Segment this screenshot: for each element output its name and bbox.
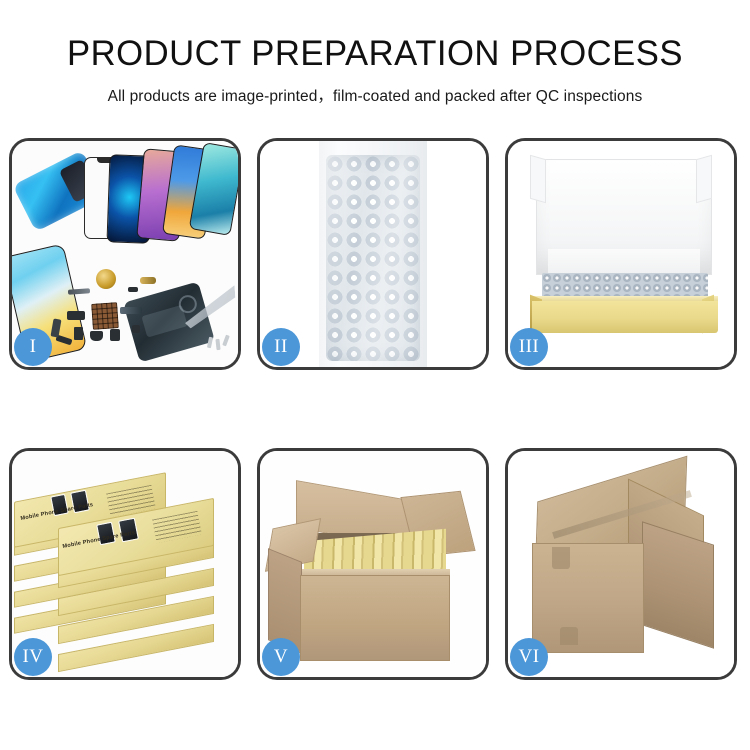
- vibrator-part: [90, 331, 103, 341]
- ribbon-cable-part: [120, 307, 142, 314]
- step-badge-6: VI: [510, 638, 548, 676]
- product-preparation-infographic: PRODUCT PREPARATION PROCESS All products…: [0, 0, 750, 750]
- step-panel-2: II: [257, 138, 489, 370]
- chip-grid-part: [91, 302, 119, 330]
- small-part: [74, 327, 83, 340]
- page-title: PRODUCT PREPARATION PROCESS: [4, 36, 747, 73]
- carton-front-panel: [532, 543, 644, 653]
- battery-part: [110, 329, 120, 341]
- carton-front-panel: [300, 575, 450, 661]
- plastic-sheen: [326, 155, 420, 361]
- box-front-panel: [532, 301, 718, 333]
- carton-tab-top: [552, 547, 570, 569]
- small-part: [67, 311, 85, 320]
- small-part: [132, 325, 140, 333]
- step-badge-5: V: [262, 638, 300, 676]
- gold-connector-part: [140, 277, 156, 284]
- speaker-part: [96, 269, 116, 289]
- box-flap-right: [696, 155, 712, 204]
- step-panel-4: Mobile Phone Spare Parts Mobile Phone Sp…: [9, 448, 241, 680]
- step-badge-1: I: [14, 328, 52, 366]
- steps-grid: I II: [9, 138, 741, 680]
- page-subtitle: All products are image-printed，film-coat…: [0, 84, 750, 106]
- step-panel-5: V: [257, 448, 489, 680]
- step-panel-3: III: [505, 138, 737, 370]
- step-badge-4: IV: [14, 638, 52, 676]
- step-badge-2: II: [262, 328, 300, 366]
- carton-tab-bottom: [560, 627, 578, 645]
- small-part: [128, 287, 138, 292]
- step-panel-6: VI: [505, 448, 737, 680]
- box-flap-left: [530, 155, 546, 204]
- step-panel-1: I: [9, 138, 241, 370]
- header: PRODUCT PREPARATION PROCESS All products…: [0, 0, 750, 106]
- step-badge-3: III: [510, 328, 548, 366]
